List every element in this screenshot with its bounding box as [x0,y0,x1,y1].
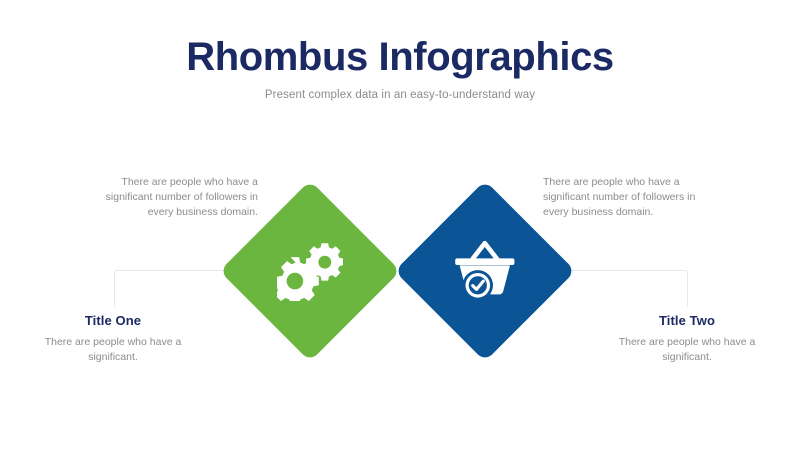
callout-heading-two: Title Two [594,313,780,328]
connector-line-left [114,270,233,307]
gears-icon [246,207,374,335]
callout-block-one: Title One There are people who have a si… [20,313,206,365]
page-title: Rhombus Infographics [0,36,800,78]
callout-body-one: There are people who have a significant. [20,335,206,365]
callout-top-text-two: There are people who have a significant … [543,175,723,221]
header: Rhombus Infographics Present complex dat… [0,36,800,101]
callout-heading-one: Title One [20,313,206,328]
page-subtitle: Present complex data in an easy-to-under… [0,89,800,101]
callout-top-text-one: There are people who have a significant … [78,175,258,221]
connector-line-right [568,270,688,307]
callout-body-two: There are people who have a significant. [594,335,780,365]
slide-canvas: Rhombus Infographics Present complex dat… [0,0,800,450]
callout-block-two: Title Two There are people who have a si… [594,313,780,365]
shopping-basket-check-icon [421,207,549,335]
